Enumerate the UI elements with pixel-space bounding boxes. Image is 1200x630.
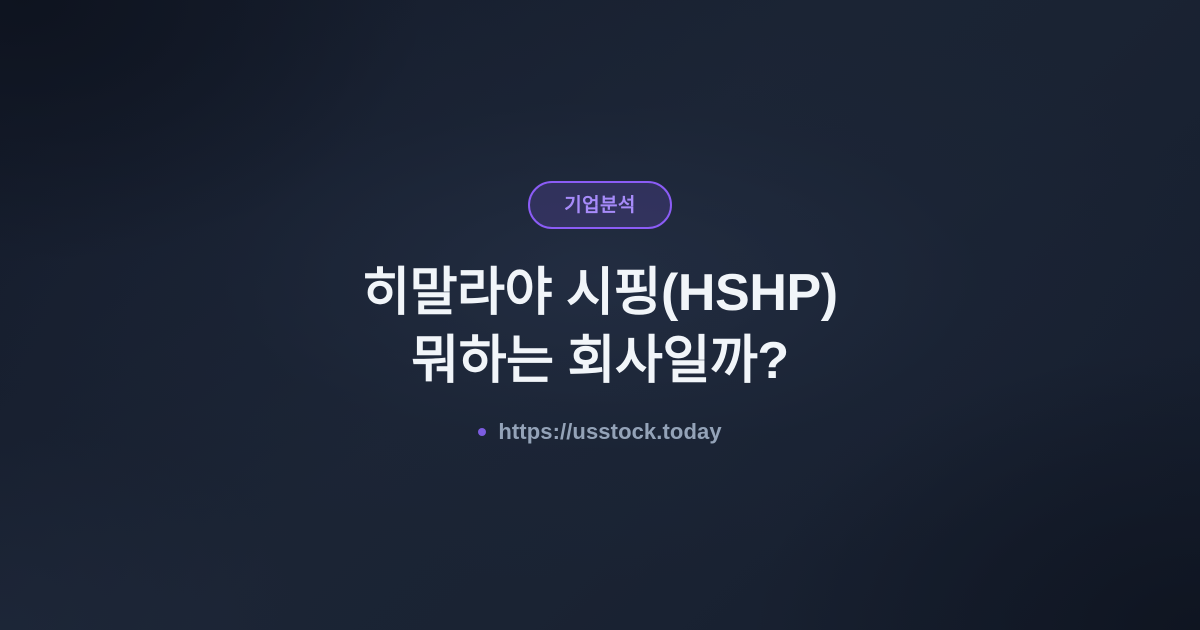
card-content: 기업분석 히말라야 시핑(HSHP) 뭐하는 회사일까? https://uss…	[0, 181, 1200, 443]
page-title: 히말라야 시핑(HSHP) 뭐하는 회사일까?	[362, 259, 837, 395]
bullet-dot-icon	[478, 428, 486, 436]
site-url-label: https://usstock.today	[498, 421, 721, 443]
category-badge: 기업분석	[528, 181, 672, 229]
page-title-line-2: 뭐하는 회사일까?	[362, 327, 837, 395]
page-title-line-1: 히말라야 시핑(HSHP)	[362, 259, 837, 327]
og-card: 기업분석 히말라야 시핑(HSHP) 뭐하는 회사일까? https://uss…	[0, 0, 1200, 630]
site-url-row: https://usstock.today	[478, 421, 721, 443]
